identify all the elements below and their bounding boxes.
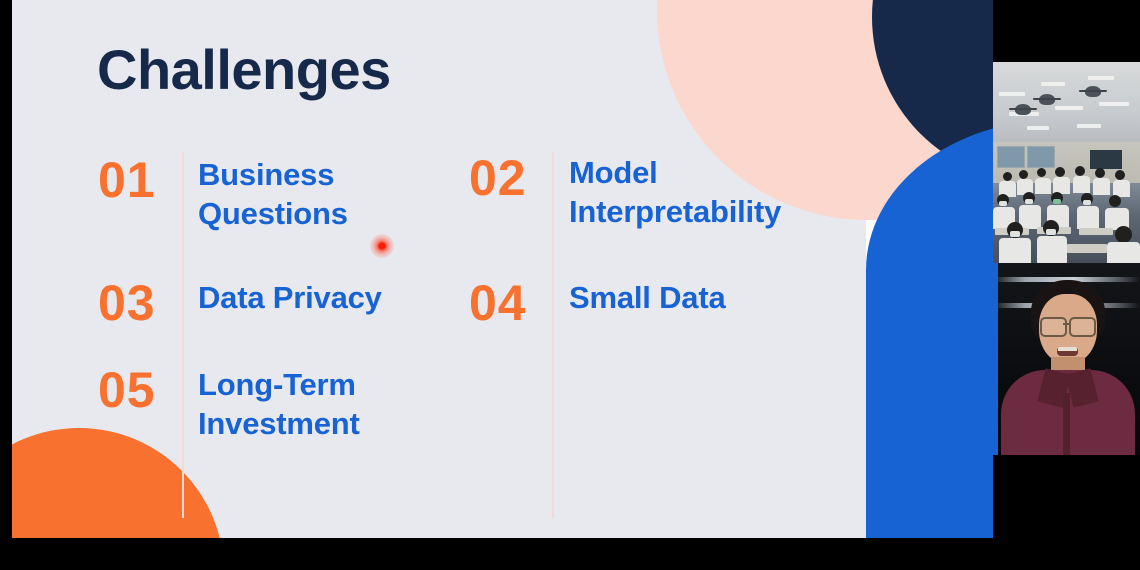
face-mask xyxy=(1046,229,1056,235)
student-head xyxy=(1115,170,1125,180)
challenge-label-02: Model Interpretability xyxy=(569,153,781,232)
student-body xyxy=(1077,206,1099,229)
student-head xyxy=(1095,168,1105,178)
student-body xyxy=(1073,176,1090,193)
challenge-list: 01 Business Questions 02 Model Interpret… xyxy=(12,0,993,538)
speaker-camera-panel[interactable] xyxy=(993,263,1140,455)
ceiling-light xyxy=(1088,76,1114,80)
student-head xyxy=(1019,170,1028,179)
ceiling-light xyxy=(1099,102,1129,106)
screen: Challenges 01 Business Questions 02 Mode… xyxy=(0,0,1140,570)
desk xyxy=(1067,244,1107,253)
ceiling-fan xyxy=(1015,104,1031,115)
student-body xyxy=(1107,242,1140,263)
ceiling-light xyxy=(1027,126,1049,130)
presentation-slide[interactable]: Challenges 01 Business Questions 02 Mode… xyxy=(12,0,993,538)
window xyxy=(997,146,1025,168)
student-body xyxy=(1037,236,1067,263)
challenge-number-01: 01 xyxy=(98,155,198,206)
face-mask xyxy=(1083,200,1091,205)
challenge-item-02: 02 Model Interpretability xyxy=(469,153,781,232)
challenge-label-01: Business Questions xyxy=(198,155,348,234)
eyeglasses-bridge xyxy=(1063,323,1069,325)
challenge-item-04: 04 Small Data xyxy=(469,278,726,329)
challenge-number-03: 03 xyxy=(98,278,198,329)
speaker-teeth xyxy=(1058,347,1077,351)
laser-pointer-dot xyxy=(370,234,394,258)
challenge-item-01: 01 Business Questions xyxy=(98,155,348,234)
face-mask xyxy=(999,201,1007,206)
challenge-number-05: 05 xyxy=(98,365,198,416)
slide-blue-edge xyxy=(993,263,998,455)
challenge-label-04: Small Data xyxy=(569,278,726,317)
challenge-number-02: 02 xyxy=(469,153,569,204)
ceiling-light xyxy=(1077,124,1101,128)
challenge-label-05: Long-Term Investment xyxy=(198,365,360,444)
ceiling-fan xyxy=(1085,86,1101,97)
challenge-number-04: 04 xyxy=(469,278,569,329)
student-head xyxy=(1109,195,1121,207)
shirt-placket xyxy=(1063,393,1070,455)
wall-board xyxy=(1090,150,1122,168)
student-head xyxy=(1037,168,1046,177)
face-mask xyxy=(1010,231,1020,237)
challenge-item-05: 05 Long-Term Investment xyxy=(98,365,360,444)
ceiling-light xyxy=(1055,106,1083,110)
student-head xyxy=(1003,172,1012,181)
ceiling-fan xyxy=(1039,94,1055,105)
student-body xyxy=(1035,178,1051,194)
ceiling-light xyxy=(999,92,1025,96)
challenge-label-03: Data Privacy xyxy=(198,278,382,317)
student-body xyxy=(999,238,1031,263)
student-head xyxy=(1055,167,1065,177)
student-body xyxy=(1019,205,1041,229)
eyeglasses-right-lens xyxy=(1069,317,1096,337)
face-mask xyxy=(1053,199,1061,204)
face-mask xyxy=(1025,199,1033,204)
desk xyxy=(1079,228,1113,235)
window xyxy=(1027,146,1055,168)
student-body xyxy=(1093,178,1110,195)
eyeglasses-left-lens xyxy=(1040,317,1067,337)
classroom-camera-panel[interactable] xyxy=(993,62,1140,263)
challenge-item-03: 03 Data Privacy xyxy=(98,278,382,329)
student-head xyxy=(1075,166,1085,176)
student-head xyxy=(1115,226,1132,243)
ceiling-light xyxy=(1041,82,1065,86)
